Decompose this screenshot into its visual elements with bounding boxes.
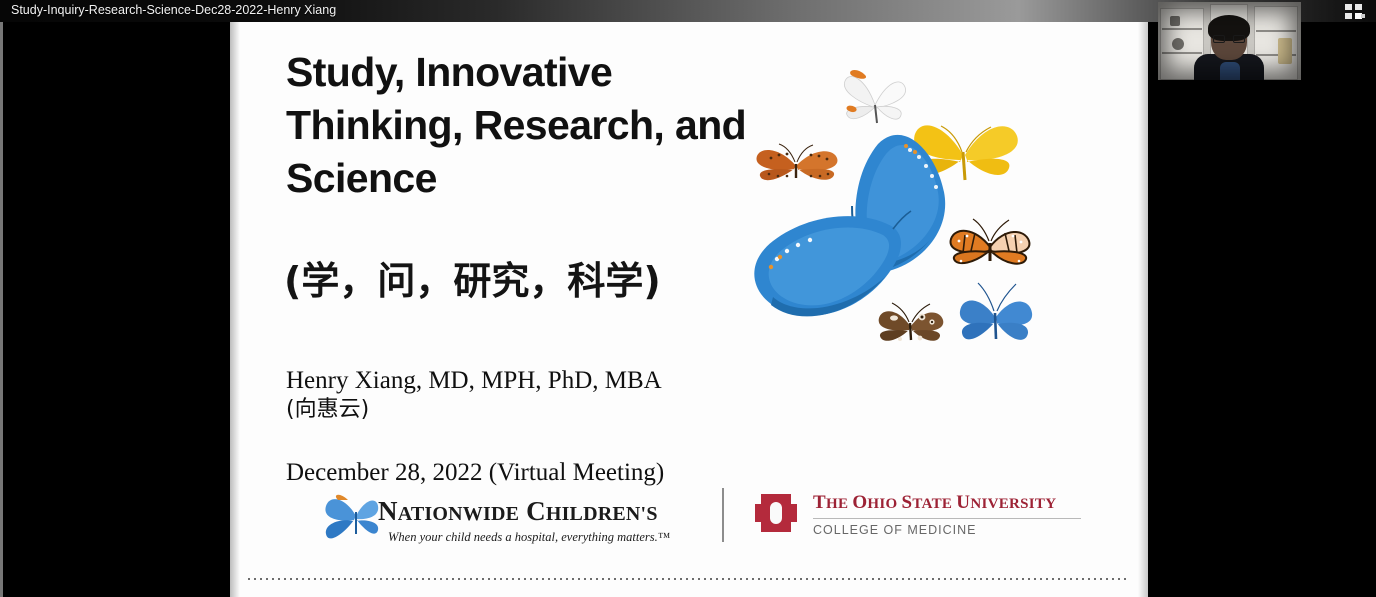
- slide-author-block: Henry Xiang, MD, MPH, PhD, MBA (向惠云): [286, 366, 746, 424]
- stage-left-border: [0, 0, 3, 597]
- author-name-chinese: (向惠云): [286, 395, 746, 424]
- osu-logo-rule: [813, 518, 1081, 519]
- slide-title: Study, Innovative Thinking, Research, an…: [286, 46, 756, 205]
- butterfly-brown: [870, 298, 950, 356]
- nationwide-childrens-wordmark: NATIONWIDE CHILDREN'S: [378, 496, 658, 527]
- ohio-state-logo: THE OHIO STATE UNIVERSITY COLLEGE OF MED…: [755, 488, 1085, 544]
- nationwide-childrens-logo: NATIONWIDE CHILDREN'S When your child ne…: [310, 486, 710, 548]
- slide-subtitle-chinese: (学，问，研究，科学): [284, 258, 764, 304]
- slide-dotted-divider: [248, 578, 1130, 580]
- grid-view-icon[interactable]: [1345, 4, 1365, 19]
- osu-university-name: THE OHIO STATE UNIVERSITY: [813, 492, 1056, 514]
- presentation-slide: Study, Innovative Thinking, Research, an…: [230, 0, 1148, 597]
- logo-divider: [722, 488, 724, 542]
- meeting-title: Study-Inquiry-Research-Science-Dec28-202…: [11, 3, 336, 17]
- osu-block-o-icon: [755, 490, 797, 536]
- pip-vignette: [1158, 2, 1301, 80]
- butterfly-monarch: [945, 215, 1035, 280]
- video-stage: Study, Innovative Thinking, Research, an…: [0, 0, 1376, 597]
- speaker-webcam-thumbnail[interactable]: [1158, 2, 1301, 80]
- logo-row: NATIONWIDE CHILDREN'S When your child ne…: [230, 482, 1148, 552]
- butterfly-white: [835, 65, 915, 140]
- butterfly-blue-small: [950, 275, 1040, 360]
- butterflies-illustration: [735, 60, 1055, 380]
- nationwide-childrens-tagline: When your child needs a hospital, everyt…: [388, 530, 670, 545]
- author-name: Henry Xiang, MD, MPH, PhD, MBA: [286, 366, 746, 395]
- osu-college-name: COLLEGE OF MEDICINE: [813, 523, 976, 537]
- butterfly-orange-left: [751, 138, 841, 193]
